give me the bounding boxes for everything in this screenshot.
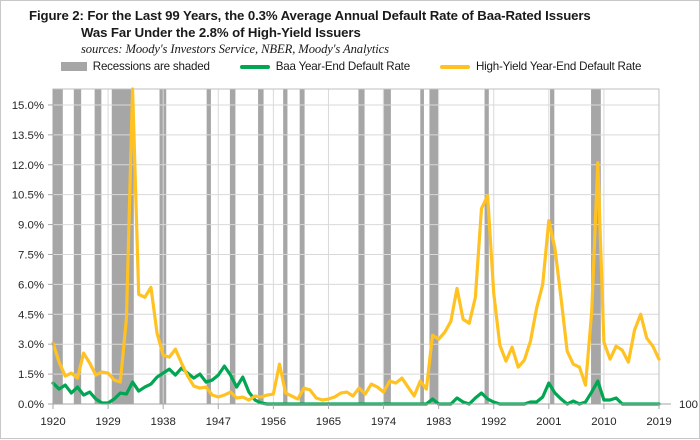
y-tick-label-9: 13.5% xyxy=(12,130,44,142)
recession-band-12 xyxy=(420,89,424,404)
y-tick-label-1: 1.5% xyxy=(18,369,44,381)
y-tick-label-10: 15.0% xyxy=(12,100,44,112)
y-tick-label-2: 3.0% xyxy=(18,339,44,351)
recession-swatch-icon xyxy=(61,62,87,71)
y-tick-label-5: 7.5% xyxy=(18,249,44,261)
sources-note: sources: Moody's Investors Service, NBER… xyxy=(81,42,700,57)
legend-item-baa[interactable]: Baa Year-End Default Rate xyxy=(240,60,410,73)
x-tick-label-2: 1938 xyxy=(151,416,176,428)
plot-area-wrapper: 0.0%1.5%3.0%4.5%6.0%7.5%9.0%10.5%12.0%13… xyxy=(1,79,700,440)
legend-label-baa: Baa Year-End Default Rate xyxy=(276,60,410,73)
x-tick-label-1: 1929 xyxy=(95,416,120,428)
x-tick-label-8: 1992 xyxy=(481,416,506,428)
legend-label-recessions: Recessions are shaded xyxy=(93,60,210,73)
page-title-line-1: Figure 2: For the Last 99 Years, the 0.3… xyxy=(29,7,700,24)
x-tick-label-6: 1974 xyxy=(371,416,396,428)
figure-container: Figure 2: For the Last 99 Years, the 0.3… xyxy=(0,0,700,439)
recession-band-1 xyxy=(74,89,81,404)
legend-item-high-yield[interactable]: High-Yield Year-End Default Rate xyxy=(440,60,641,73)
recession-band-10 xyxy=(358,89,364,404)
y-tick-label-6: 9.0% xyxy=(18,220,44,232)
recession-band-2 xyxy=(95,89,102,404)
x-tick-label-3: 1947 xyxy=(206,416,231,428)
recession-band-14 xyxy=(485,89,489,404)
x-tick-label-10: 2010 xyxy=(591,416,616,428)
x-tick-label-0: 1920 xyxy=(40,416,65,428)
legend-item-recessions[interactable]: Recessions are shaded xyxy=(61,60,210,73)
chart-legend: Recessions are shaded Baa Year-End Defau… xyxy=(1,60,700,73)
recession-band-11 xyxy=(383,89,391,404)
baa-line-swatch-icon xyxy=(240,65,270,69)
legend-label-high-yield: High-Yield Year-End Default Rate xyxy=(476,60,641,73)
y-tick-label-8: 12.0% xyxy=(12,160,44,172)
y-tick-label-3: 4.5% xyxy=(18,309,44,321)
recession-band-7 xyxy=(258,89,264,404)
title-block: Figure 2: For the Last 99 Years, the 0.3… xyxy=(1,7,700,57)
x-tick-label-5: 1965 xyxy=(316,416,341,428)
x-tick-label-9: 2001 xyxy=(536,416,561,428)
x-tick-label-4: 1956 xyxy=(261,416,286,428)
recession-band-8 xyxy=(283,89,287,404)
x-tick-label-7: 1983 xyxy=(426,416,451,428)
x-tick-label-11: 2019 xyxy=(646,416,671,428)
y-tick-label-4: 6.0% xyxy=(18,279,44,291)
recession-band-9 xyxy=(300,89,305,404)
recession-band-6 xyxy=(230,89,236,404)
line-chart: 0.0%1.5%3.0%4.5%6.0%7.5%9.0%10.5%12.0%13… xyxy=(1,79,700,440)
recession-band-5 xyxy=(207,89,211,404)
corner-count-label: 100 xyxy=(679,399,698,411)
page-title-line-2: Was Far Under the 2.8% of High-Yield Iss… xyxy=(81,24,700,41)
high-yield-line-swatch-icon xyxy=(440,65,470,69)
y-tick-label-7: 10.5% xyxy=(12,190,44,202)
y-tick-label-0: 0.0% xyxy=(18,399,44,411)
